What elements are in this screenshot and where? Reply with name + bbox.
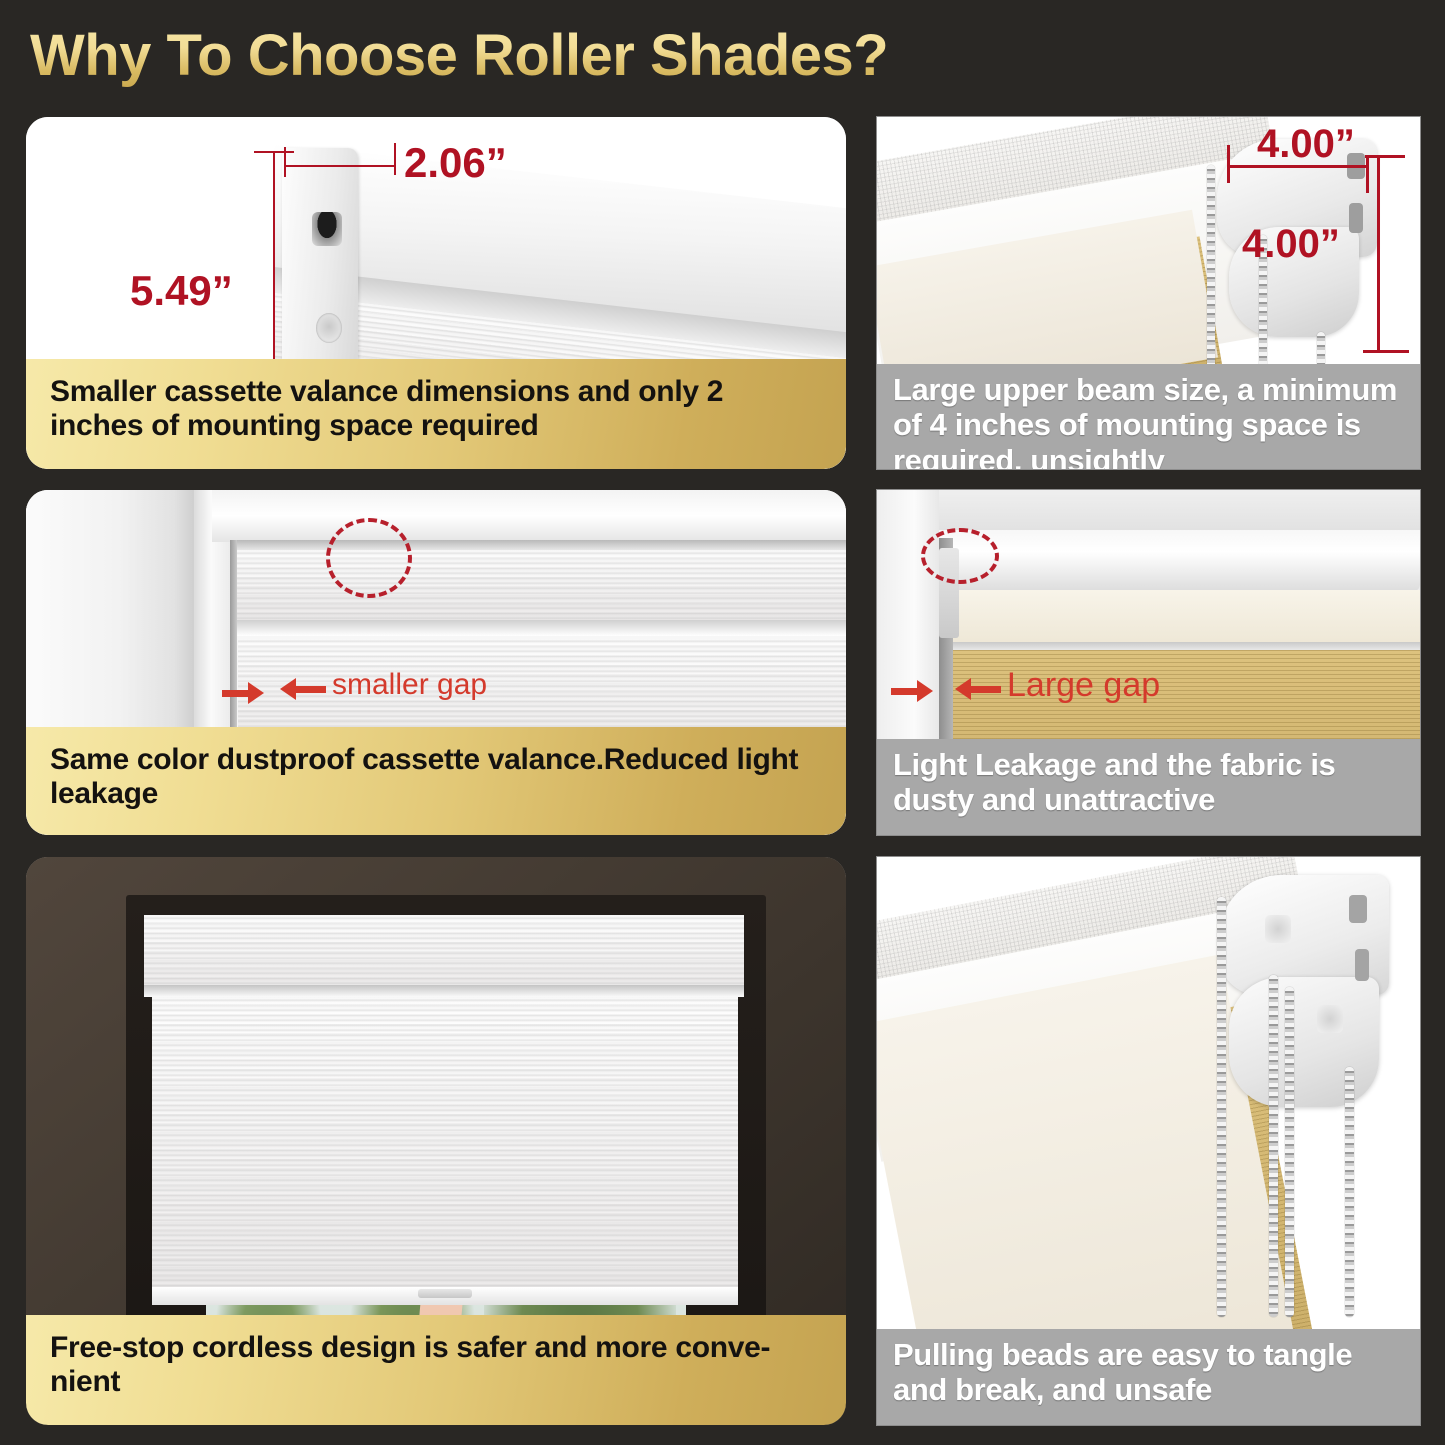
caption-bar-competitor-leakage: Light Leakage and the fabric is dusty an… bbox=[877, 739, 1420, 835]
width-dimension-line bbox=[284, 165, 396, 167]
width-tick-left bbox=[1227, 145, 1230, 183]
bracket-logo-icon bbox=[1265, 915, 1291, 943]
height-dimension-line bbox=[1377, 157, 1380, 353]
caption-text: Pulling beads are easy to tangle and bre… bbox=[893, 1337, 1406, 1408]
caption-text: Large upper beam size, a minimum of 4 in… bbox=[893, 372, 1406, 469]
panel-competitor-pulling-beads: Pulling beads are easy to tangle and bre… bbox=[877, 857, 1420, 1425]
gap-arrow-left-head bbox=[248, 682, 264, 704]
panel-competitor-upper-beam: 4.00” 4.00” Large upper beam size, a min… bbox=[877, 117, 1420, 469]
end-bracket bbox=[282, 148, 358, 378]
bracket-logo-icon-2 bbox=[1317, 1005, 1343, 1033]
caption-text: Smaller cassette valance dimensions and … bbox=[50, 375, 824, 443]
cream-fabric bbox=[953, 590, 1420, 646]
panel-product-valance-dimensions: 2.06” 5.49” Smaller cassette valance dim… bbox=[26, 117, 846, 469]
page-title: Why To Choose Roller Shades? bbox=[30, 22, 888, 89]
valance-lip bbox=[144, 985, 744, 997]
gap-arrow-right-shaft bbox=[971, 686, 1001, 693]
width-tick-right bbox=[394, 143, 396, 175]
caption-text: Free-stop cordless design is safer and m… bbox=[50, 1331, 824, 1399]
height-dimension-label: 5.49” bbox=[130, 267, 233, 315]
bracket-notch-2 bbox=[1349, 203, 1363, 233]
panel-product-dustproof-valance: smaller gap Same color dustproof cassett… bbox=[26, 490, 846, 835]
width-tick-right bbox=[1366, 155, 1369, 193]
height-tick-bottom bbox=[1363, 350, 1409, 353]
caption-bar-product-dustproof: Same color dustproof cassette valance.Re… bbox=[26, 727, 846, 835]
bracket-housing-bottom bbox=[1229, 977, 1379, 1107]
bracket-notch-1 bbox=[1349, 895, 1367, 923]
gap-arrow-right-head bbox=[280, 678, 296, 700]
roller-tube bbox=[937, 530, 1420, 592]
valance-bottom-lip bbox=[234, 620, 846, 636]
caption-bar-competitor-beam: Large upper beam size, a minimum of 4 in… bbox=[877, 364, 1420, 469]
width-dimension-label: 4.00” bbox=[1257, 122, 1355, 167]
backdrop-top bbox=[877, 490, 1420, 530]
bracket-screw-icon bbox=[316, 313, 342, 343]
highlight-ring-icon bbox=[326, 518, 412, 598]
panel-product-cordless-design: Free-stop cordless design is safer and m… bbox=[26, 857, 846, 1425]
caption-text: Light Leakage and the fabric is dusty an… bbox=[893, 747, 1406, 818]
panel-competitor-light-leakage: Large gap Light Leakage and the fabric i… bbox=[877, 490, 1420, 835]
height-dimension-label: 4.00” bbox=[1242, 222, 1340, 267]
width-tick-left bbox=[284, 147, 286, 177]
gap-arrow-right-head bbox=[955, 678, 971, 700]
bracket-notch-2 bbox=[1355, 949, 1369, 981]
width-dimension-label: 2.06” bbox=[404, 139, 507, 187]
gap-arrow-right-shaft bbox=[296, 686, 326, 693]
gap-arrow-left-shaft bbox=[891, 688, 919, 695]
infographic-page: Why To Choose Roller Shades? 2.06” 5.49” bbox=[0, 0, 1445, 1445]
highlight-ring-icon bbox=[921, 528, 999, 584]
bead-chain-middle bbox=[1269, 975, 1278, 1317]
gap-arrow-left-head bbox=[917, 680, 933, 702]
bead-chain-middle-2 bbox=[1285, 987, 1294, 1317]
window-top-molding bbox=[212, 490, 846, 542]
gap-callout-label: Large gap bbox=[1007, 666, 1160, 705]
bracket-slot-icon bbox=[312, 212, 342, 246]
caption-text: Same color dustproof cassette valance.Re… bbox=[50, 743, 824, 811]
bead-chain-right bbox=[1345, 1067, 1354, 1317]
height-tick-top bbox=[1365, 155, 1405, 158]
height-tick-top bbox=[254, 151, 294, 153]
caption-bar-product-cordless: Free-stop cordless design is safer and m… bbox=[26, 1315, 846, 1425]
caption-bar-competitor-beads: Pulling beads are easy to tangle and bre… bbox=[877, 1329, 1420, 1425]
gap-callout-label: smaller gap bbox=[332, 668, 487, 702]
caption-bar-product-valance: Smaller cassette valance dimensions and … bbox=[26, 359, 846, 469]
bead-chain-left bbox=[1217, 897, 1226, 1317]
bottom-rail-grip bbox=[418, 1289, 472, 1298]
shade-fabric bbox=[152, 997, 738, 1305]
